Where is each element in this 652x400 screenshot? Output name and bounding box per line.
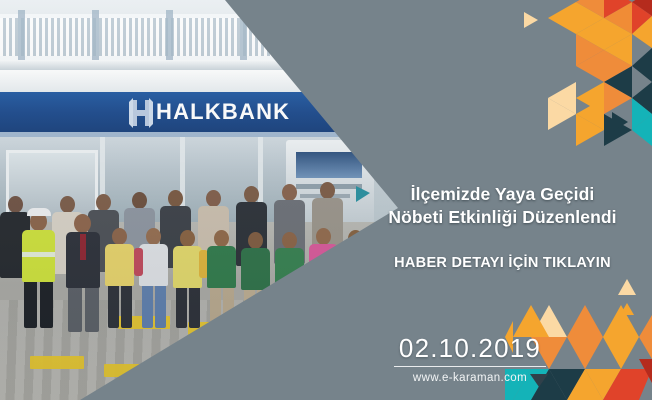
headline-line-2: Nöbeti Etkinliği Düzenlendi bbox=[360, 206, 645, 229]
publish-date: 02.10.2019 bbox=[390, 333, 550, 363]
news-banner[interactable]: HALKBANK bbox=[0, 0, 652, 400]
arrow-left-icon bbox=[524, 12, 538, 28]
headline-line-1: İlçemizde Yaya Geçidi bbox=[360, 183, 645, 206]
divider-rule bbox=[394, 366, 546, 367]
news-headline: İlçemizde Yaya Geçidi Nöbeti Etkinliği D… bbox=[360, 183, 645, 229]
website-url[interactable]: www.e-karaman.com bbox=[390, 372, 550, 384]
read-more-link[interactable]: HABER DETAYI İÇİN TIKLAYIN bbox=[360, 255, 645, 271]
triangle-mosaic-top-right bbox=[496, 0, 652, 160]
triangle-up-icon bbox=[618, 279, 636, 295]
date-block: 02.10.2019 www.e-karaman.com bbox=[390, 333, 550, 384]
